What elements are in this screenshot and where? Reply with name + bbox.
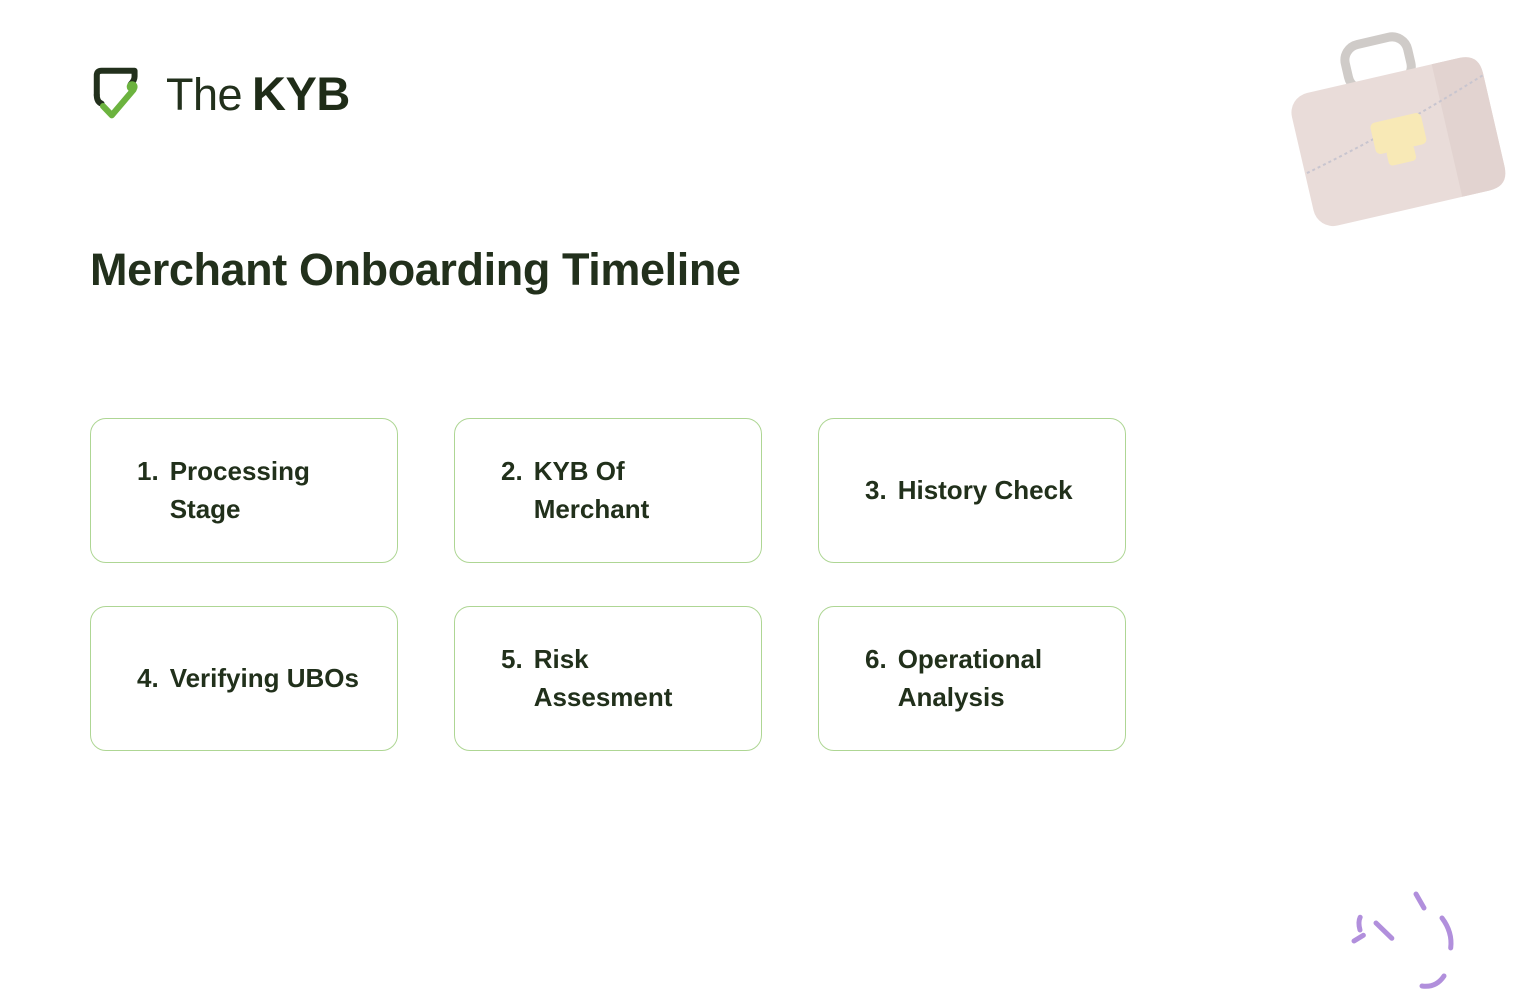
step-content: 5. Risk Assesment (501, 641, 727, 716)
step-number: 5. (501, 641, 523, 679)
step-label: KYB Of Merchant (534, 453, 727, 528)
page-title: Merchant Onboarding Timeline (90, 245, 741, 295)
step-number: 3. (865, 472, 887, 510)
step-number: 1. (137, 453, 159, 491)
step-number: 2. (501, 453, 523, 491)
brand-word-the: The (166, 72, 242, 117)
steps-grid: 1. Processing Stage 2. KYB Of Merchant 3… (90, 418, 1122, 751)
step-label: History Check (898, 472, 1073, 510)
dashed-scribble-icon (1332, 878, 1502, 1003)
step-card-5[interactable]: 5. Risk Assesment (454, 606, 762, 751)
brand-word-kyb: KYB (252, 70, 350, 117)
step-card-1[interactable]: 1. Processing Stage (90, 418, 398, 563)
step-card-3[interactable]: 3. History Check (818, 418, 1126, 563)
infographic-page: The KYB Merchant Onboarding Timeline 1. … (0, 0, 1536, 1008)
step-content: 4. Verifying UBOs (137, 660, 359, 698)
kyb-check-shield-icon (90, 62, 152, 124)
briefcase-icon (1268, 22, 1524, 242)
brand-wordmark: The KYB (166, 70, 350, 117)
step-number: 6. (865, 641, 887, 679)
step-content: 6. Operational Analysis (865, 641, 1091, 716)
step-card-2[interactable]: 2. KYB Of Merchant (454, 418, 762, 563)
step-number: 4. (137, 660, 159, 698)
step-label: Verifying UBOs (170, 660, 359, 698)
step-content: 3. History Check (865, 472, 1073, 510)
step-label: Operational Analysis (898, 641, 1091, 716)
step-content: 2. KYB Of Merchant (501, 453, 727, 528)
step-content: 1. Processing Stage (137, 453, 363, 528)
step-label: Processing Stage (170, 453, 363, 528)
brand-logo: The KYB (90, 62, 350, 124)
step-card-6[interactable]: 6. Operational Analysis (818, 606, 1126, 751)
step-card-4[interactable]: 4. Verifying UBOs (90, 606, 398, 751)
step-label: Risk Assesment (534, 641, 727, 716)
